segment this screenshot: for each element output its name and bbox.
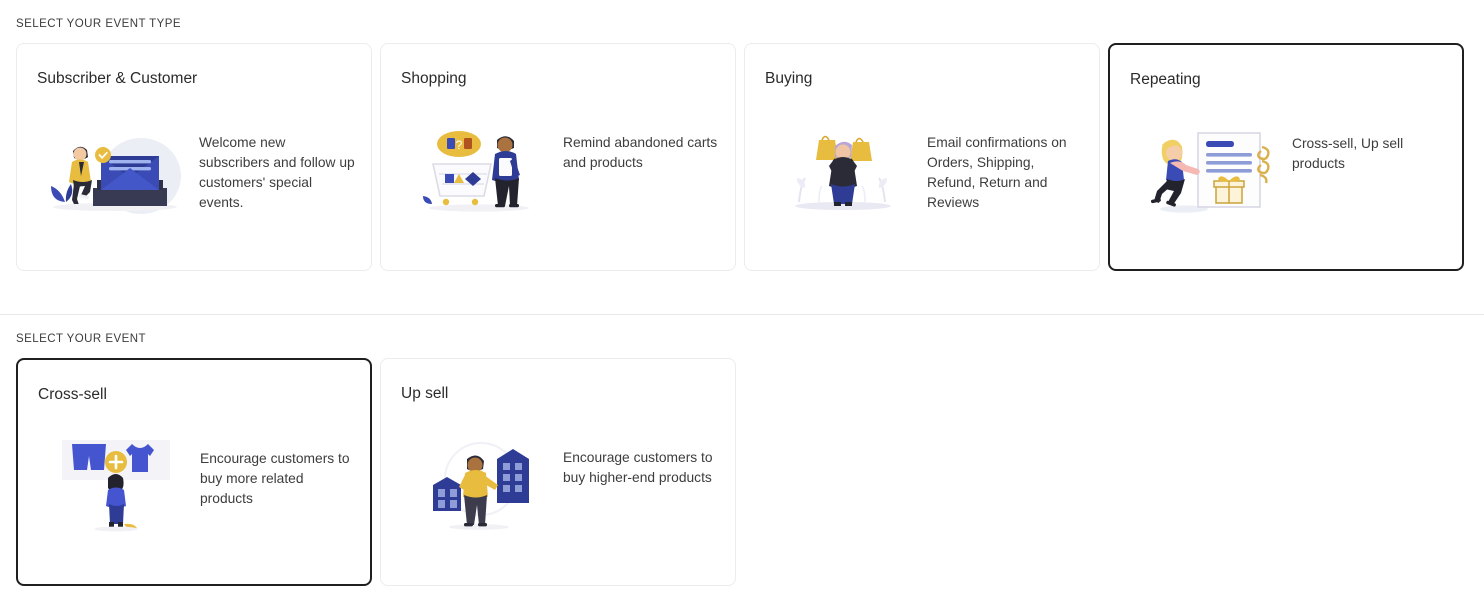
event-type-card-repeating[interactable]: Repeating (1108, 43, 1464, 271)
card-description: Encourage customers to buy more related … (196, 432, 354, 509)
card-title: Shopping (401, 69, 467, 89)
card-body: Cross-sell, Up sell products (1128, 117, 1446, 217)
card-title: Subscriber & Customer (37, 69, 197, 89)
card-description: Welcome new subscribers and follow up cu… (195, 116, 355, 213)
svg-text:?: ? (456, 138, 463, 152)
event-type-selector-page: SELECT YOUR EVENT TYPE Subscriber & Cust… (0, 0, 1484, 613)
card-body: Email confirmations on Orders, Shipping,… (763, 116, 1083, 216)
repeating-gift-document-illustration (1128, 117, 1288, 217)
card-title: Cross-sell (38, 385, 107, 405)
card-title: Buying (765, 69, 812, 89)
card-body: Encourage customers to buy more related … (36, 432, 354, 532)
subscriber-customer-illustration (35, 116, 195, 216)
event-type-card-subscriber-customer[interactable]: Subscriber & Customer (16, 43, 372, 271)
event-type-card-row: Subscriber & Customer (16, 43, 1468, 271)
card-body: Encourage customers to buy higher-end pr… (399, 431, 719, 531)
card-body: Welcome new subscribers and follow up cu… (35, 116, 355, 216)
event-type-card-buying[interactable]: Buying (744, 43, 1100, 271)
shopping-cart-illustration: ? (399, 116, 559, 216)
section-label-event: SELECT YOUR EVENT (16, 315, 1468, 358)
event-card-row: Cross-sell (16, 358, 1468, 586)
event-type-card-shopping[interactable]: Shopping ? (380, 43, 736, 271)
section-label-event-type: SELECT YOUR EVENT TYPE (16, 0, 1468, 43)
buying-bags-illustration (763, 116, 923, 216)
card-body: ? (399, 116, 719, 216)
up-sell-buildings-illustration (399, 431, 559, 531)
card-description: Encourage customers to buy higher-end pr… (559, 431, 719, 488)
event-card-up-sell[interactable]: Up sell (380, 358, 736, 586)
section-event: SELECT YOUR EVENT Cross-sell (0, 315, 1484, 586)
card-description: Remind abandoned carts and products (559, 116, 719, 173)
event-card-cross-sell[interactable]: Cross-sell (16, 358, 372, 586)
card-title: Repeating (1130, 70, 1201, 90)
card-description: Email confirmations on Orders, Shipping,… (923, 116, 1083, 213)
card-description: Cross-sell, Up sell products (1288, 117, 1446, 174)
card-title: Up sell (401, 384, 448, 404)
cross-sell-clothing-illustration (36, 432, 196, 532)
section-event-type: SELECT YOUR EVENT TYPE Subscriber & Cust… (0, 0, 1484, 271)
